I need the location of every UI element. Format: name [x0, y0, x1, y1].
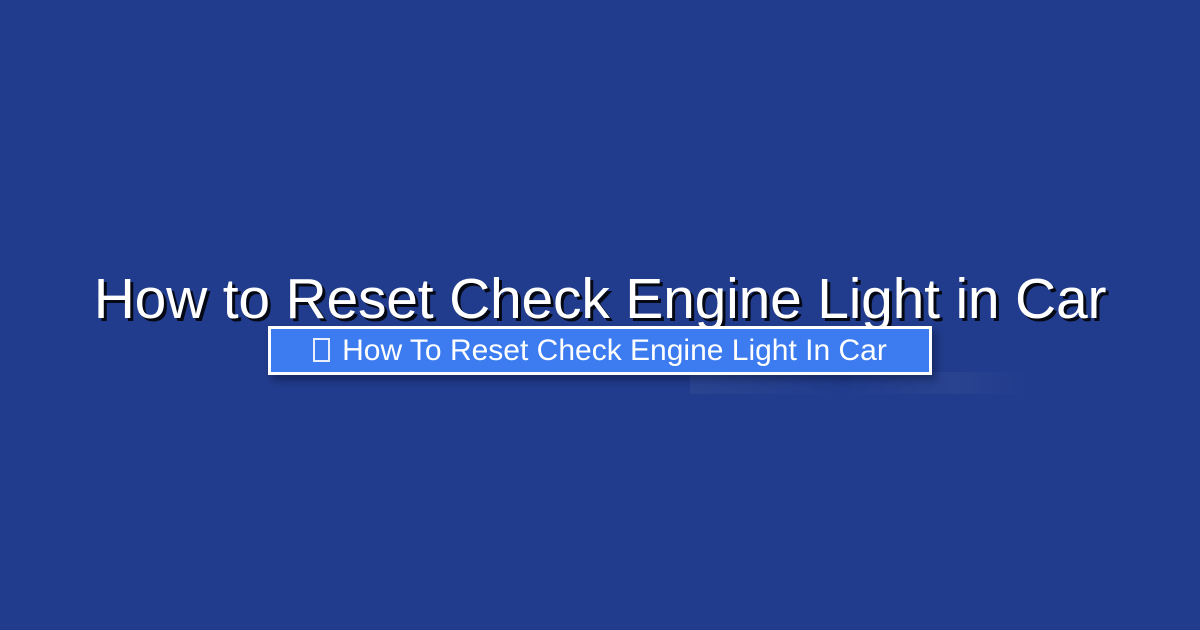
page-title: How to Reset Check Engine Light in Car: [0, 266, 1200, 332]
render-artifact: [690, 372, 1030, 394]
cta-container: How To Reset Check Engine Light In Car: [0, 326, 1200, 375]
missing-glyph-box-icon: [313, 338, 330, 362]
social-share-card: How to Reset Check Engine Light in Car H…: [0, 0, 1200, 630]
watch-video-button-label: How To Reset Check Engine Light In Car: [342, 334, 887, 368]
watch-video-button[interactable]: How To Reset Check Engine Light In Car: [268, 326, 932, 375]
